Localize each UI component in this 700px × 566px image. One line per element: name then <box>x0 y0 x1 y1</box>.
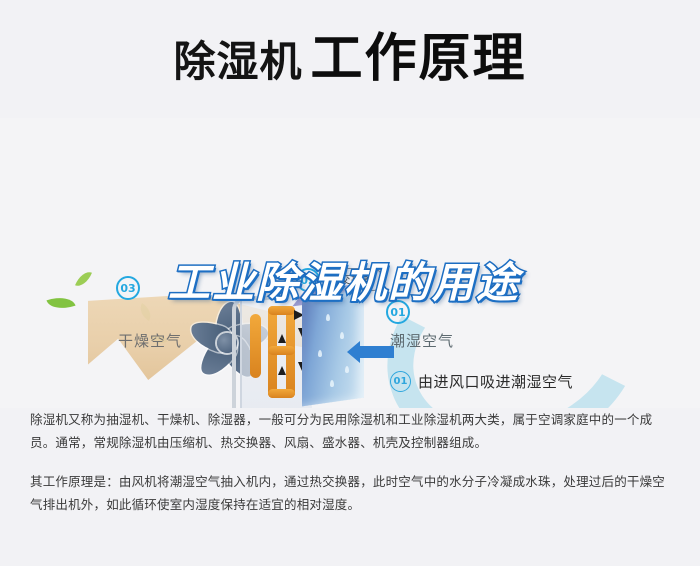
body-copy: 除湿机又称为抽湿机、干燥机、除湿器，一般可分为民用除湿机和工业除湿机两大类，属于… <box>0 408 700 516</box>
water-droplet-icon <box>326 314 330 321</box>
list-item: 01 由进风口吸进潮湿空气 <box>390 370 690 392</box>
leaf-icon <box>75 269 92 290</box>
copper-pipe <box>268 346 295 355</box>
copper-pipe <box>250 314 261 378</box>
leaf-icon <box>46 292 75 313</box>
paragraph-1: 除湿机又称为抽湿机、干燥机、除湿器，一般可分为民用除湿机和工业除湿机两大类，属于… <box>30 408 670 454</box>
page-title: 除湿机 工作原理 <box>173 33 526 85</box>
page-header: 除湿机 工作原理 <box>0 0 700 118</box>
steps-list: 01 由进风口吸进潮湿空气 02 潮湿空气经过蒸发器冷凝成水珠 03 从上部出风… <box>390 370 690 408</box>
air-intake-arrow-icon <box>360 346 394 358</box>
step-label: 由进风口吸进潮湿空气 <box>418 371 573 392</box>
water-droplet-icon <box>330 380 334 387</box>
page-title-part2: 工作原理 <box>311 33 527 85</box>
water-droplet-icon <box>345 366 349 373</box>
page-title-part1: 除湿机 <box>173 41 302 83</box>
dry-air-label: 干燥空气 <box>118 330 182 351</box>
flow-arrow-up-icon <box>278 366 286 375</box>
water-droplet-icon <box>340 332 344 339</box>
copper-pipe <box>268 306 295 315</box>
overlay-banner-text: 工业除湿机的用途 <box>168 262 520 304</box>
paragraph-2: 其工作原理是：由风机将潮湿空气抽入机内，通过热交换器，此时空气中的水分子冷凝成水… <box>30 470 670 516</box>
humid-air-label: 潮湿空气 <box>390 330 454 351</box>
water-droplet-icon <box>318 350 322 357</box>
dry-air-badge: 03 <box>116 276 140 300</box>
flow-arrow-up-icon <box>278 334 286 343</box>
step-number: 01 <box>390 371 411 392</box>
copper-pipe <box>268 389 295 398</box>
